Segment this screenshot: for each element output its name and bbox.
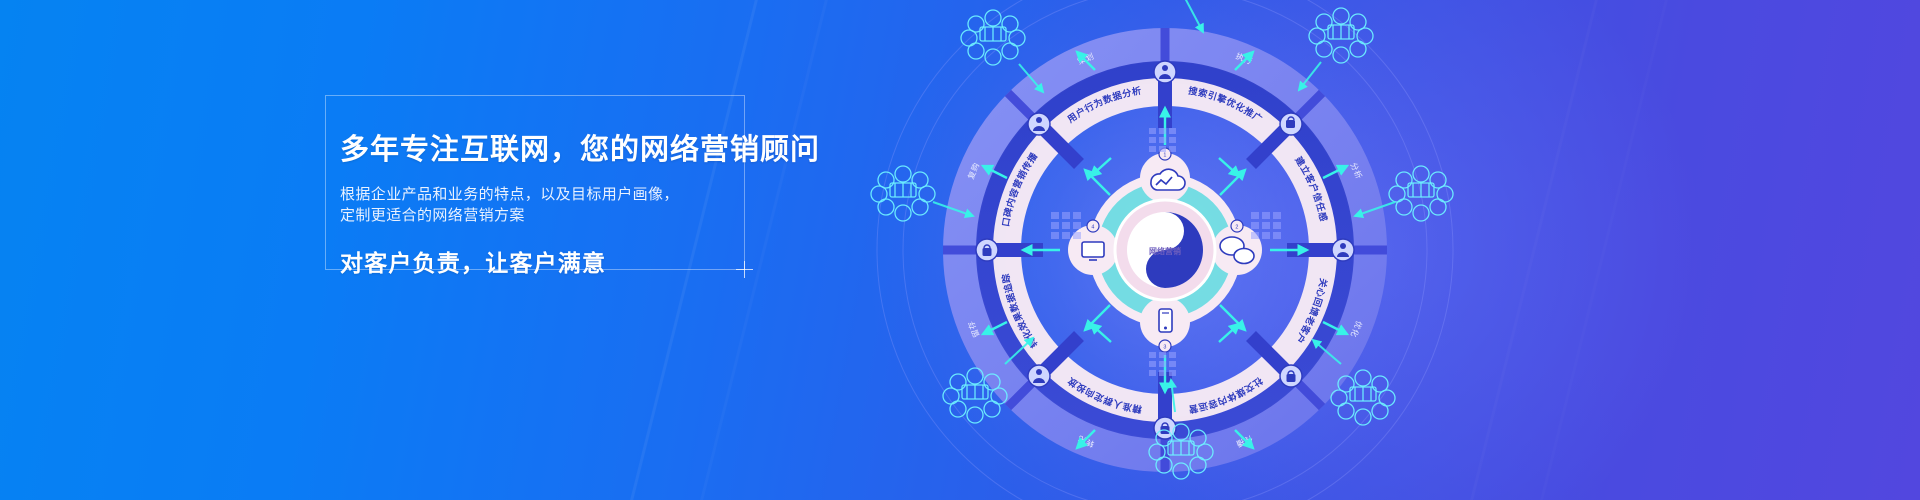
node-icon-0[interactable] <box>1154 61 1176 83</box>
marketing-wheel-diagram: 策划 执行 分析 优化 传播 转化 留存 <box>855 0 1475 500</box>
node-icon-3[interactable] <box>1280 365 1302 387</box>
node-icon-1[interactable] <box>1280 113 1302 135</box>
node-icon-4[interactable] <box>1154 417 1176 439</box>
hero-banner: 多年专注互联网，您的网络营销顾问 根据企业产品和业务的特点，以及目标用户画像， … <box>0 0 1920 500</box>
hero-text-box: 多年专注互联网，您的网络营销顾问 根据企业产品和业务的特点，以及目标用户画像， … <box>325 95 745 270</box>
node-icon-7[interactable] <box>1028 113 1050 135</box>
node-icon-6[interactable] <box>976 239 998 261</box>
hero-tagline: 对客户负责，让客户满意 <box>340 244 740 278</box>
page-title: 多年专注互联网，您的网络营销顾问 <box>340 126 740 168</box>
node-icon-2[interactable] <box>1332 239 1354 261</box>
hero-subtitle-line-2: 定制更适合的网络营销方案 <box>340 205 740 226</box>
wheel-center-label: 网络营销 <box>1149 246 1181 256</box>
hero-subtitle-line-1: 根据企业产品和业务的特点，以及目标用户画像， <box>340 184 740 205</box>
svg-text:3: 3 <box>1163 344 1166 350</box>
node-icon-5[interactable] <box>1028 365 1050 387</box>
svg-text:4: 4 <box>1091 224 1094 230</box>
hero-text-inner: 多年专注互联网，您的网络营销顾问 根据企业产品和业务的特点，以及目标用户画像， … <box>340 126 740 278</box>
mobile-phone-icon <box>1159 309 1172 332</box>
background-sheen-4 <box>1508 0 1695 500</box>
svg-text:2: 2 <box>1235 224 1238 230</box>
svg-text:1: 1 <box>1163 152 1166 158</box>
hero-subtitle: 根据企业产品和业务的特点，以及目标用户画像， 定制更适合的网络营销方案 <box>340 184 740 226</box>
monitor-icon <box>1082 242 1104 260</box>
